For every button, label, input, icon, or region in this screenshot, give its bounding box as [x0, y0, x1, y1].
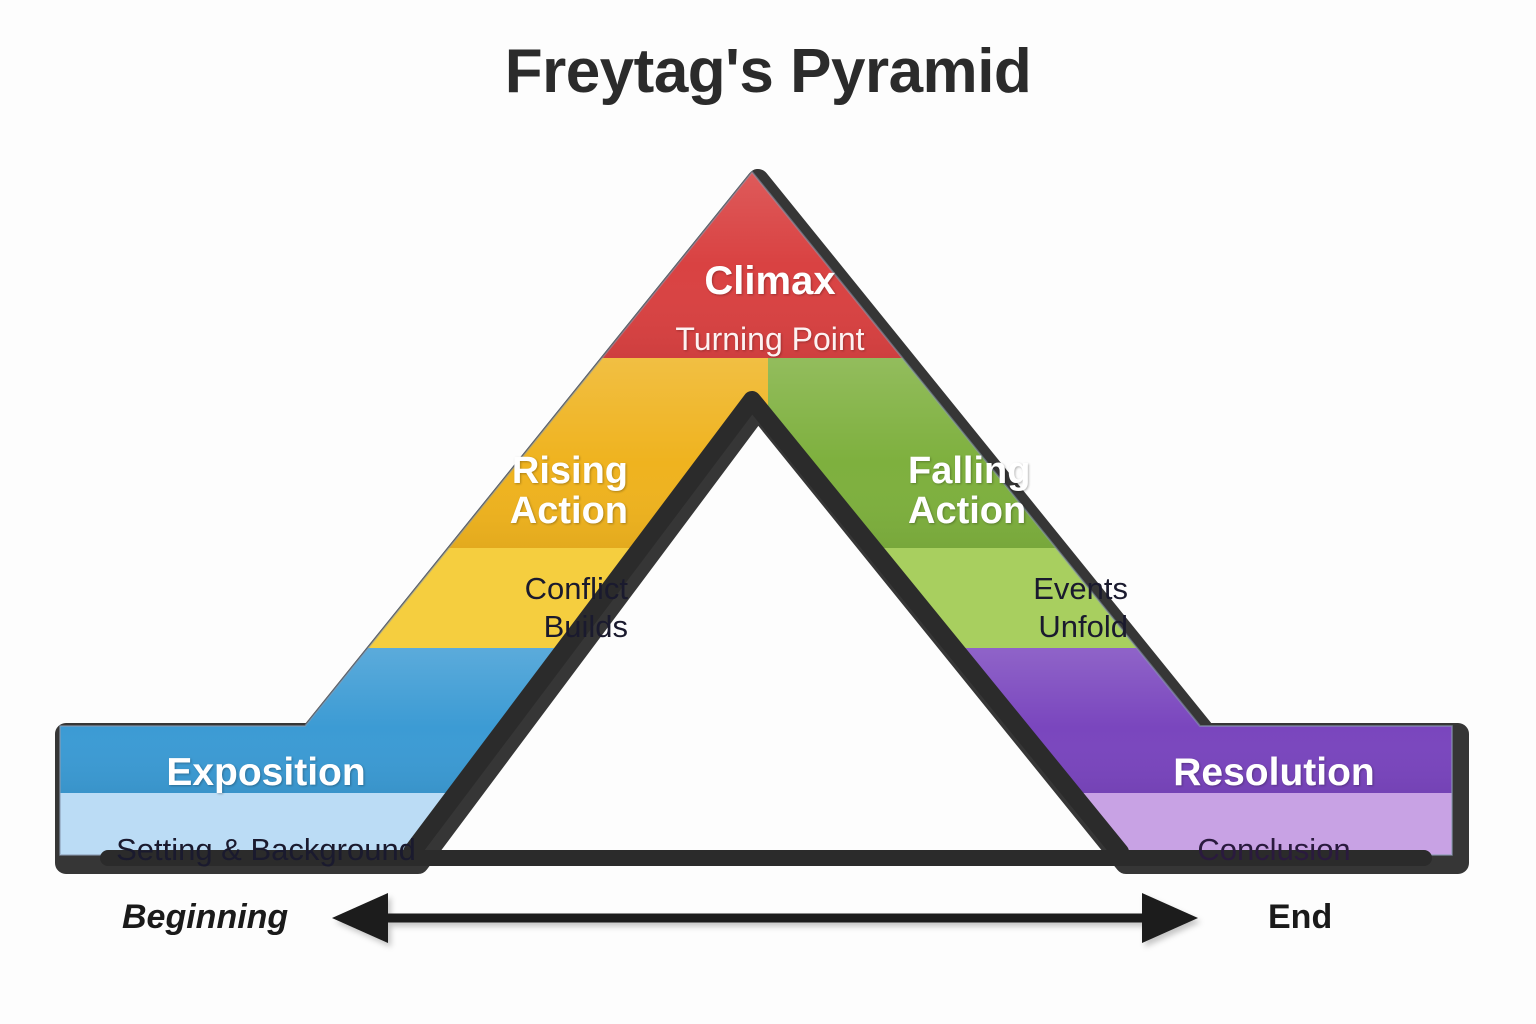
page-title: Freytag's Pyramid [0, 36, 1536, 107]
stage-subtitle-climax: Turning Point [620, 323, 920, 357]
stage-name-resolution: Resolution [1068, 752, 1480, 793]
diagram-canvas: Freytag's Pyramid Climax Turning Point R… [0, 0, 1536, 1024]
stage-name-falling-action: Falling Action [908, 451, 1128, 532]
stage-label-climax: Climax Turning Point [620, 243, 920, 374]
stage-name-exposition: Exposition [60, 752, 472, 793]
stage-subtitle-exposition: Setting & Background [60, 834, 472, 867]
stage-subtitle-falling-action: Events Unfold [908, 570, 1128, 646]
stage-name-climax: Climax [620, 260, 920, 302]
axis-label-beginning: Beginning [122, 898, 288, 937]
stage-name-rising-action: Rising Action [408, 451, 628, 532]
axis-label-end: End [1268, 898, 1332, 937]
stage-subtitle-resolution: Conclusion [1068, 834, 1480, 867]
stage-label-rising-action: Rising Action Conflict Builds [408, 434, 628, 663]
stage-label-exposition: Exposition Setting & Background [60, 735, 472, 884]
arrow-head-right [1142, 893, 1198, 943]
stage-subtitle-rising-action: Conflict Builds [408, 570, 628, 646]
stage-label-resolution: Resolution Conclusion [1068, 735, 1480, 884]
arrow-head-left [332, 893, 388, 943]
direction-arrow [332, 893, 1198, 943]
stage-label-falling-action: Falling Action Events Unfold [908, 434, 1128, 663]
